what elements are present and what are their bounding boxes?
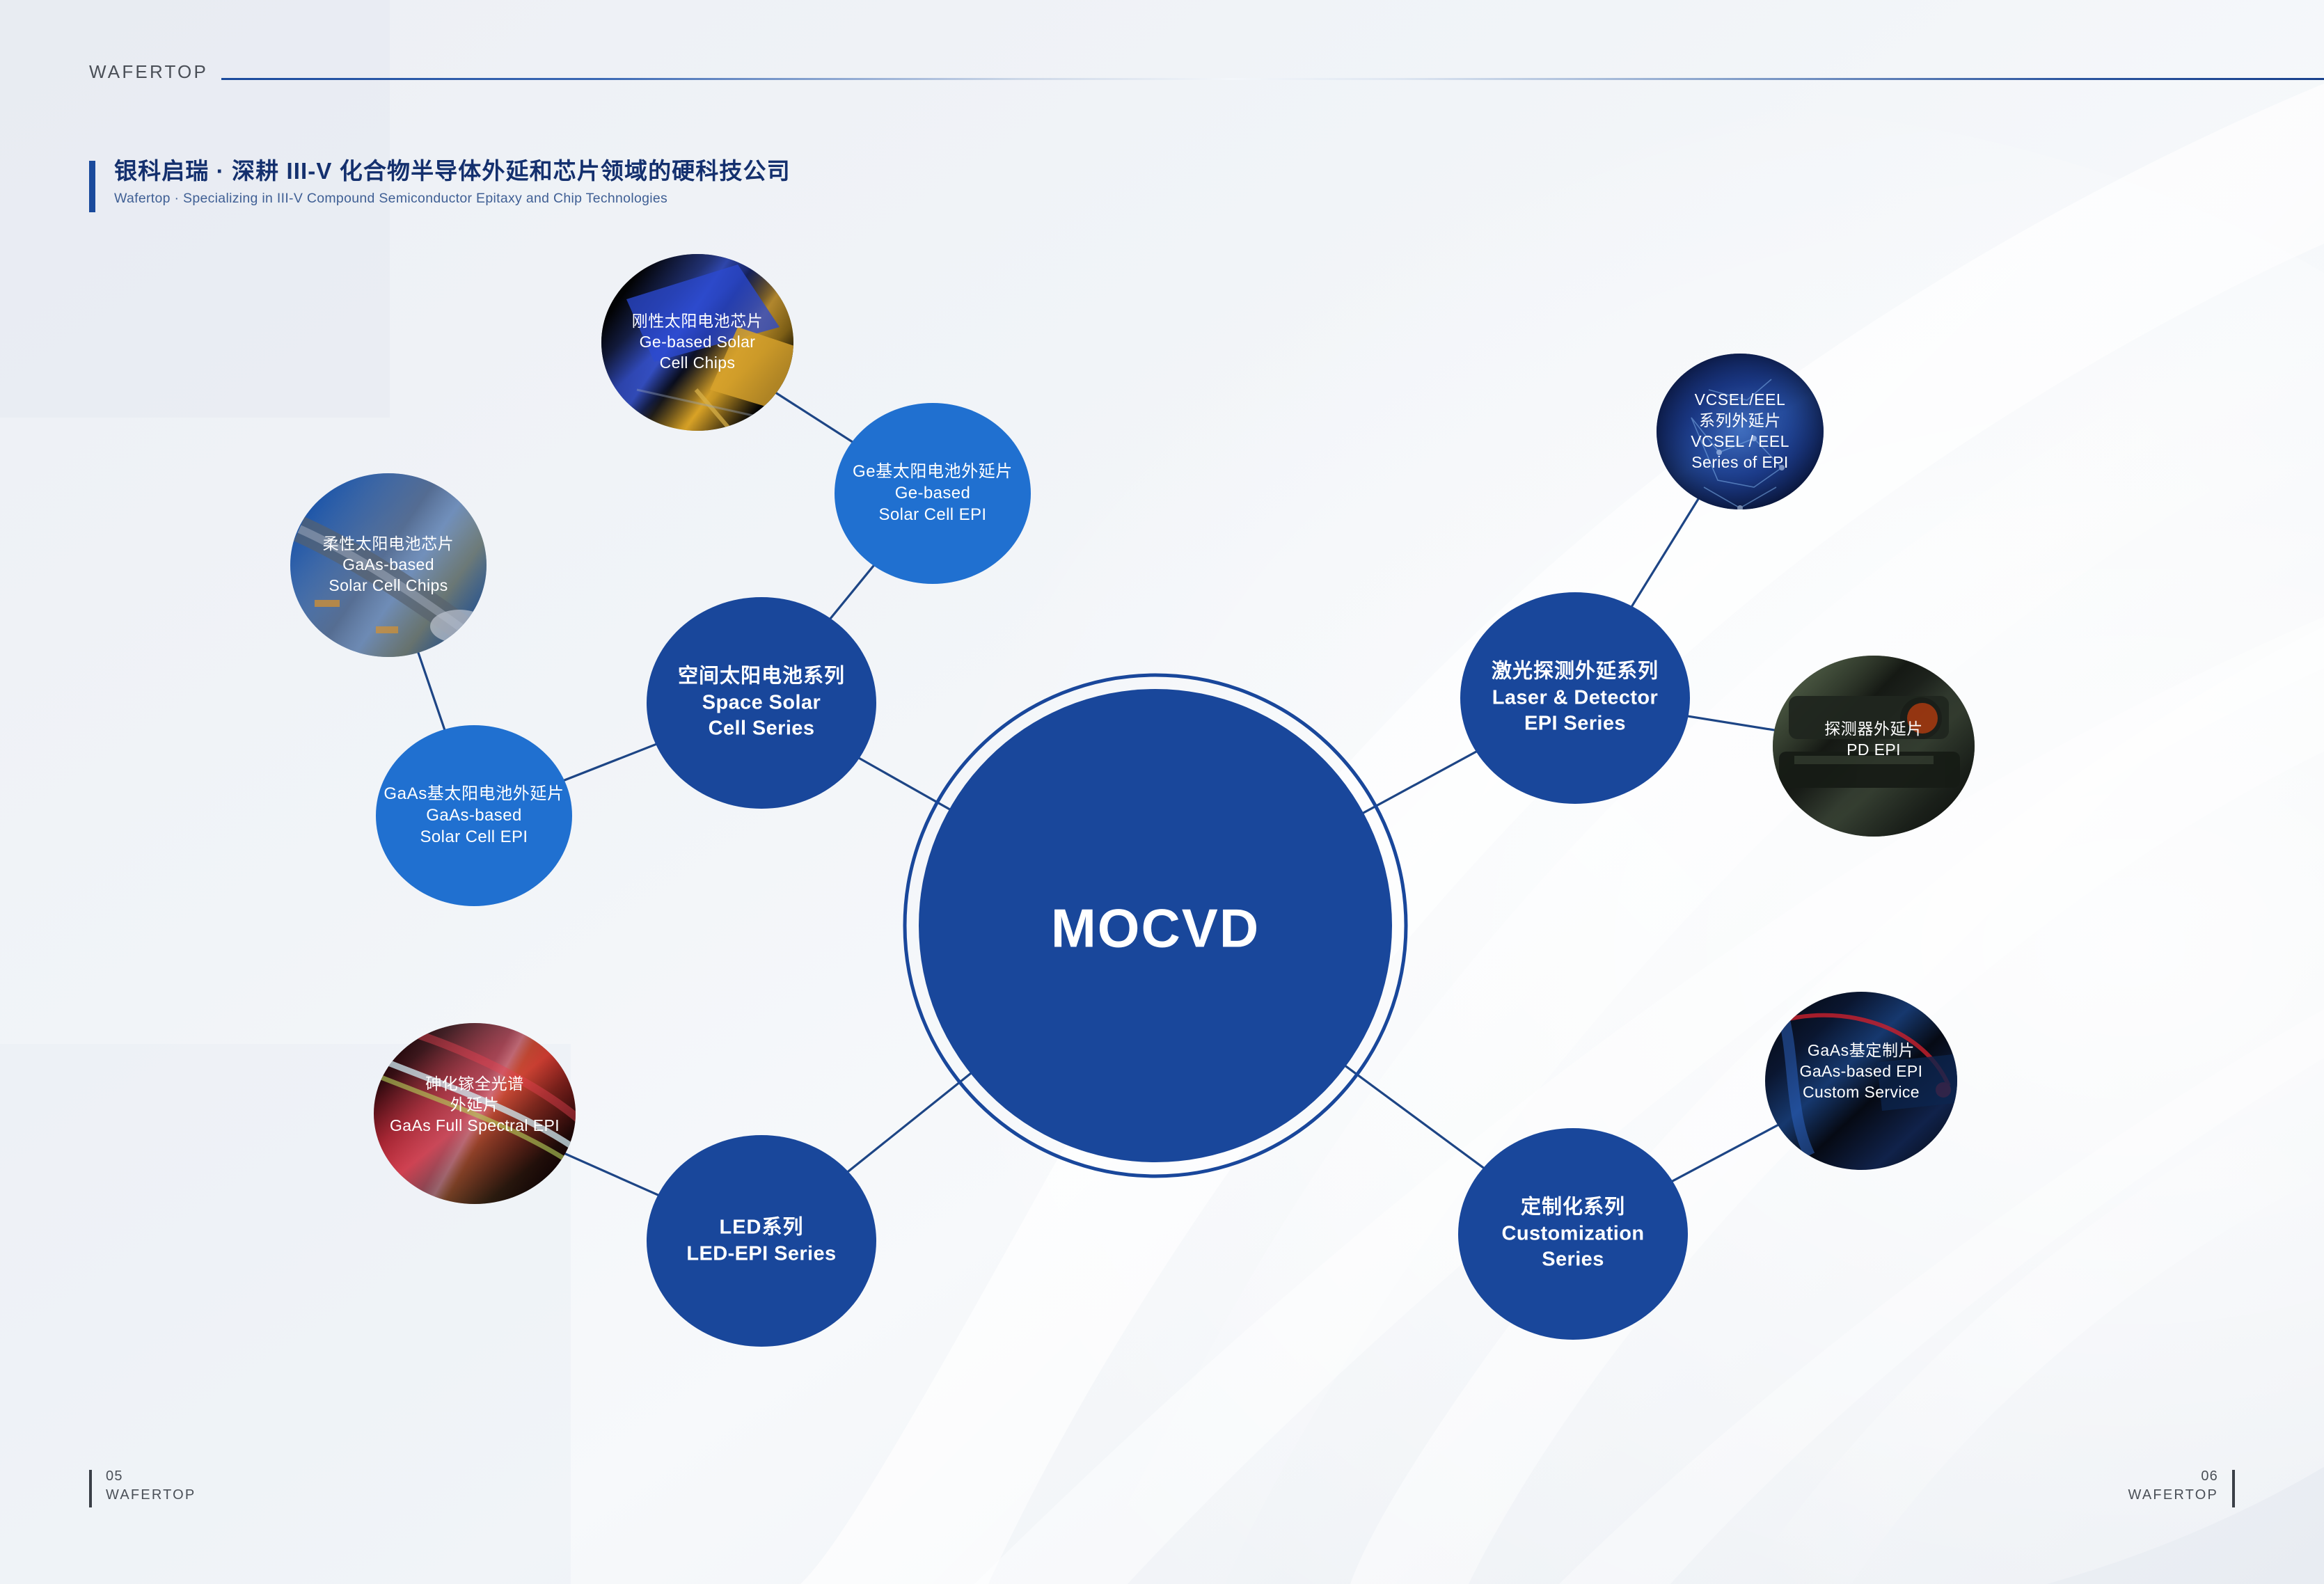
photo-node-pd-epi[interactable] (1773, 656, 1975, 837)
node-led-epi-series[interactable] (647, 1135, 876, 1347)
node-space-solar-cell-series[interactable] (647, 597, 876, 809)
mocvd-product-diagram: MOCVD 空间太阳电池系列 Space Solar Cell Series L… (0, 0, 2324, 1584)
footer-right: 06 WAFERTOP (2128, 1467, 2218, 1505)
footer-accent-bar-right (2232, 1470, 2235, 1507)
diagram-canvas (0, 0, 2324, 1584)
node-customization-series[interactable] (1458, 1128, 1688, 1340)
node-laser-detector-epi-series[interactable] (1460, 592, 1690, 804)
footer-brand-right: WAFERTOP (2128, 1486, 2218, 1505)
node-ge-based-solar-cell-epi[interactable] (835, 403, 1031, 584)
footer-brand-left: WAFERTOP (106, 1486, 196, 1505)
photo-node-vcsel-eel-series-of-epi[interactable] (1657, 354, 1824, 511)
brochure-page: WAFERTOP 银科启瑞 · 深耕 III-V 化合物半导体外延和芯片领域的硬… (0, 0, 2324, 1584)
node-gaas-based-solar-cell-epi[interactable] (376, 725, 572, 906)
photo-node-ge-based-solar-cell-chips[interactable] (601, 254, 800, 438)
photo-node-gaas-full-spectral-epi[interactable] (374, 1023, 588, 1204)
photo-node-gaas-based-solar-cell-chips[interactable] (290, 473, 489, 657)
footer-accent-bar-left (89, 1470, 92, 1507)
node-mocvd-hub[interactable] (919, 689, 1392, 1162)
page-number-right: 06 (2128, 1467, 2218, 1486)
footer-left: 05 WAFERTOP (106, 1467, 196, 1505)
photo-node-gaas-based-epi-custom-service[interactable] (1765, 992, 1965, 1170)
page-number-left: 05 (106, 1467, 196, 1486)
